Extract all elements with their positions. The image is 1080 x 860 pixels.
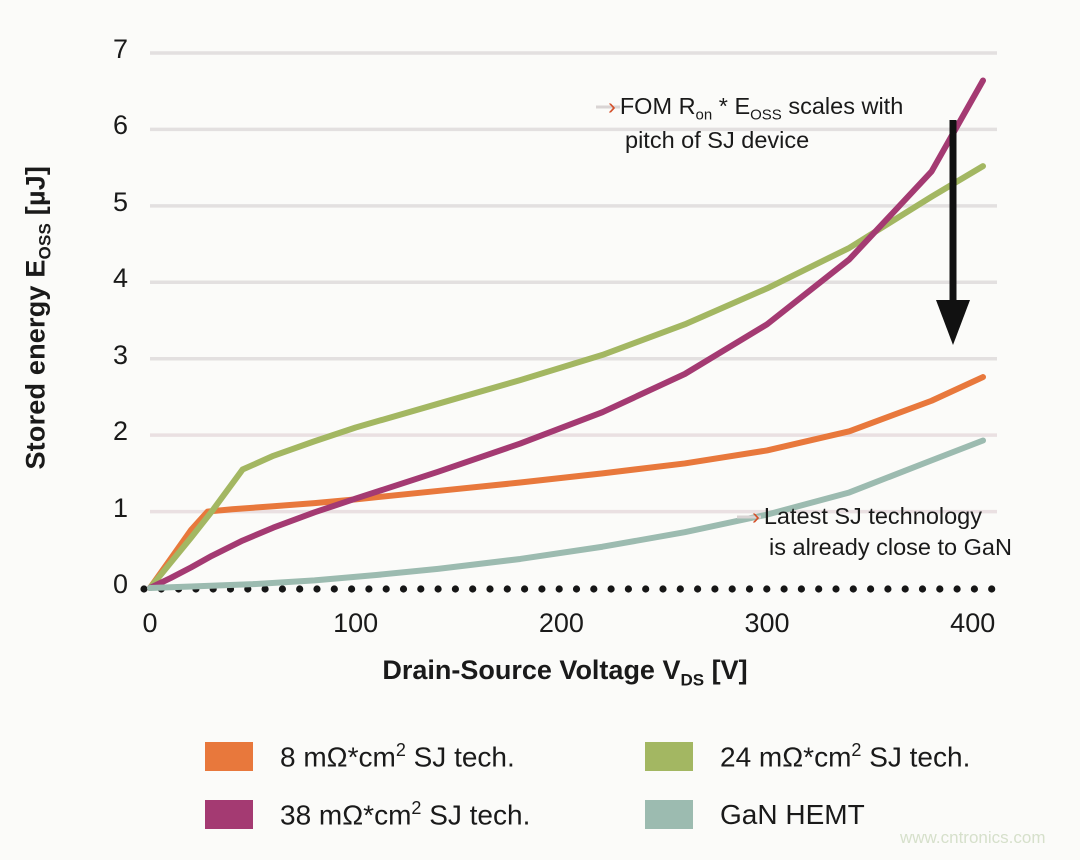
legend-color-swatch	[645, 742, 693, 771]
baseline-dot	[469, 585, 476, 592]
baseline-dot	[504, 585, 511, 592]
y-tick-label: 0	[88, 569, 128, 600]
baseline-dot	[383, 585, 390, 592]
baseline-dot	[711, 585, 718, 592]
baseline-dot	[954, 585, 961, 592]
baseline-dot	[538, 585, 545, 592]
x-tick-label: 100	[316, 608, 396, 639]
legend-item[interactable]: 8 mΩ*cm2 SJ tech.	[205, 740, 645, 773]
annotation-fom-sub-on: on	[696, 107, 713, 124]
baseline-dot	[486, 585, 493, 592]
legend-item[interactable]: 24 mΩ*cm2 SJ tech.	[645, 740, 1080, 773]
annotation-fom-line1: ›FOM Ron * EOSS scales with	[608, 91, 903, 125]
y-tick-label: 2	[88, 416, 128, 447]
y-tick-label: 5	[88, 187, 128, 218]
chart-figure: Stored energy EOSS [µJ] Drain-Source Vol…	[0, 0, 1080, 860]
baseline-dot	[746, 585, 753, 592]
baseline-dot	[417, 585, 424, 592]
legend-color-swatch	[205, 800, 253, 829]
baseline-dot	[850, 585, 857, 592]
legend-item-label: 8 mΩ*cm2 SJ tech.	[280, 740, 515, 773]
y-axis-title-sub: OSS	[36, 223, 55, 260]
annotation-latest-sj-l1: Latest SJ technology	[764, 503, 982, 529]
baseline-dot	[400, 585, 407, 592]
y-tick-label: 4	[88, 263, 128, 294]
baseline-dot	[642, 585, 649, 592]
x-tick-label: 200	[521, 608, 601, 639]
baseline-dot	[763, 585, 770, 592]
baseline-dot	[573, 585, 580, 592]
baseline-dot	[919, 585, 926, 592]
x-axis-title-unit: [V]	[704, 655, 748, 685]
baseline-dot	[365, 585, 372, 592]
annotation-fom-l1a: FOM R	[620, 93, 696, 119]
baseline-dot	[781, 585, 788, 592]
y-tick-label: 6	[88, 110, 128, 141]
annotation-latest-sj: ›Latest SJ technology is already close t…	[752, 501, 1012, 563]
baseline-dot	[884, 585, 891, 592]
legend-item[interactable]: GaN HEMT	[645, 798, 1080, 831]
legend-color-swatch	[645, 800, 693, 829]
baseline-dot	[348, 585, 355, 592]
baseline-dot	[694, 585, 701, 592]
baseline-dot	[556, 585, 563, 592]
legend-item-label: GaN HEMT	[720, 799, 865, 831]
annotation-fom-l1c: scales with	[782, 93, 903, 119]
chart-plot-area	[0, 0, 1080, 860]
baseline-dot	[902, 585, 909, 592]
baseline-dot	[331, 585, 338, 592]
x-tick-label: 400	[933, 608, 1013, 639]
baseline-dot	[729, 585, 736, 592]
y-axis-title: Stored energy EOSS [µJ]	[20, 108, 55, 528]
y-axis-title-main: Stored energy E	[20, 259, 50, 469]
baseline-dot	[608, 585, 615, 592]
baseline-dot	[590, 585, 597, 592]
baseline-dot	[435, 585, 442, 592]
baseline-dot	[798, 585, 805, 592]
y-tick-label: 1	[88, 493, 128, 524]
baseline-dot	[140, 585, 147, 592]
x-axis-title-sub: DS	[680, 670, 704, 689]
baseline-dot	[815, 585, 822, 592]
baseline-dot	[936, 585, 943, 592]
watermark: www.cntronics.com	[900, 828, 1045, 848]
legend-superscript: 2	[411, 798, 421, 818]
baseline-dot	[971, 585, 978, 592]
annotation-latest-sj-line1: ›Latest SJ technology	[752, 501, 1012, 532]
baseline-dot	[521, 585, 528, 592]
baseline-dot	[313, 585, 320, 592]
legend-item-label: 38 mΩ*cm2 SJ tech.	[280, 798, 530, 831]
zero-baseline-dotted	[140, 585, 995, 592]
y-tick-label: 7	[88, 34, 128, 65]
chevron-icon: ›	[608, 93, 616, 119]
baseline-dot	[988, 585, 995, 592]
annotation-fom: ›FOM Ron * EOSS scales with pitch of SJ …	[608, 91, 903, 157]
baseline-dot	[659, 585, 666, 592]
baseline-dot	[452, 585, 459, 592]
y-tick-label: 3	[88, 340, 128, 371]
y-axis-title-unit: [µJ]	[20, 166, 50, 223]
baseline-dot	[832, 585, 839, 592]
legend-superscript: 2	[851, 740, 861, 760]
baseline-dot	[677, 585, 684, 592]
legend-item[interactable]: 38 mΩ*cm2 SJ tech.	[205, 798, 645, 831]
legend-item-label: 24 mΩ*cm2 SJ tech.	[720, 740, 970, 773]
baseline-dot	[296, 585, 303, 592]
legend-superscript: 2	[396, 740, 406, 760]
x-tick-label: 300	[727, 608, 807, 639]
annotation-fom-sub-oss: OSS	[750, 107, 782, 124]
annotation-fom-l1b: * E	[712, 93, 750, 119]
baseline-dot	[625, 585, 632, 592]
legend-color-swatch	[205, 742, 253, 771]
baseline-dot	[279, 585, 286, 592]
x-axis-title: Drain-Source Voltage VDS [V]	[150, 655, 980, 690]
x-tick-label: 0	[110, 608, 190, 639]
annotation-fom-line2: pitch of SJ device	[608, 125, 903, 156]
x-axis-title-main: Drain-Source Voltage V	[382, 655, 680, 685]
chevron-icon: ›	[752, 503, 760, 529]
annotation-latest-sj-line2: is already close to GaN	[752, 532, 1012, 563]
baseline-dot	[867, 585, 874, 592]
chart-legend: 8 mΩ*cm2 SJ tech.24 mΩ*cm2 SJ tech.38 mΩ…	[205, 740, 1065, 832]
